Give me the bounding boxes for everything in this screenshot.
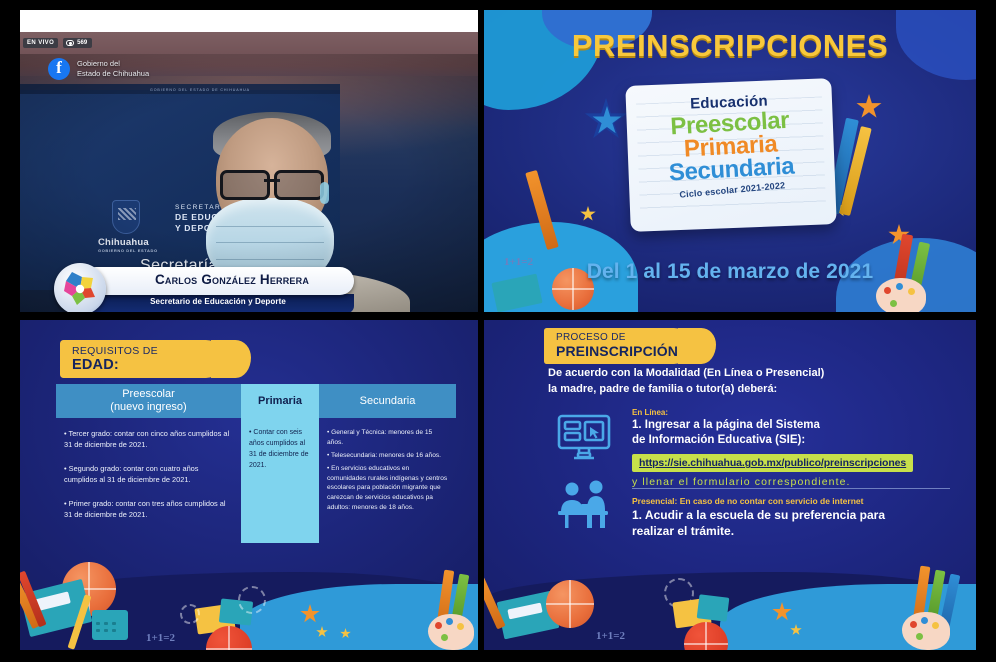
- column-cell-primaria: • Contar con seis años cumplidos al 31 d…: [241, 418, 319, 543]
- live-video-panel[interactable]: GOBIERNO DEL ESTADO DE CHIHUAHUA Chihuah…: [20, 10, 478, 312]
- monitor-cursor-icon: [556, 413, 612, 461]
- live-badge: EN VIVO: [23, 38, 58, 48]
- speaker-lower-third: Carlos González Herrera Secretario de Ed…: [54, 263, 354, 312]
- calculator-icon: [92, 610, 128, 640]
- promo-title: PREINSCRIPCIONES: [484, 28, 976, 64]
- proceso-lead-line2: la madre, padre de familia o tutor(a) de…: [548, 383, 777, 395]
- column-header-preescolar: Preescolar (nuevo ingreso): [56, 384, 241, 418]
- proceso-footer-decor: 1+1=2: [484, 560, 976, 650]
- online-label: En Línea:: [632, 408, 952, 417]
- promo-date-range: Del 1 al 15 de marzo de 2021: [484, 260, 976, 284]
- requisitos-table-body: • Tercer grado: contar con cinco años cu…: [56, 418, 456, 543]
- preescolar-item: • Primer grado: contar con tres años cum…: [64, 498, 233, 521]
- online-instruction: 1. Ingresar a la página del Sistema de I…: [632, 418, 952, 448]
- column-header-secundaria: Secundaria: [319, 384, 456, 418]
- paint-palette-icon: [902, 612, 950, 650]
- eye-icon: [66, 40, 74, 46]
- online-instruction-line2: de Información Educativa (SIE):: [632, 434, 805, 446]
- presencial-instruction-line1: 1. Acudir a la escuela de su preferencia…: [632, 508, 885, 522]
- paint-palette-icon: [428, 614, 474, 650]
- requisitos-footer-decor: 1+1=2: [20, 560, 478, 650]
- secundaria-item: • En servicios educativos en comunidades…: [327, 464, 448, 513]
- proceso-slide-panel: PROCESO DE PREINSCRIPCIÓN De acuerdo con…: [484, 320, 976, 650]
- proceso-banner-line2: PREINSCRIPCIÓN: [556, 343, 678, 359]
- notebook-icon: [697, 594, 730, 621]
- chihuahua-state-seal-icon: [54, 263, 106, 312]
- dotted-swirl-decor: [180, 604, 200, 624]
- presencial-instruction-line2: realizar el trámite.: [632, 524, 734, 538]
- promo-slide-panel: 1+1=2 PREINSCRIPCIONES Educación Preesco…: [484, 10, 976, 312]
- facebook-page-row[interactable]: f Gobierno del Estado de Chihuahua: [48, 58, 149, 80]
- promo-card: Educación Preescolar Primaria Secundaria…: [625, 78, 836, 232]
- page-name-line2: Estado de Chihuahua: [77, 69, 149, 78]
- online-instruction-line1: 1. Ingresar a la página del Sistema: [632, 419, 820, 431]
- proceso-divider: [632, 488, 950, 489]
- facebook-logo-icon: f: [48, 58, 70, 80]
- secundaria-item: • General y Técnica: menores de 15 años.: [327, 428, 448, 448]
- live-status-row: EN VIVO 569: [23, 38, 92, 48]
- basketball-icon: [546, 580, 594, 628]
- requisitos-slide-panel: REQUISITOS DE EDAD: Preescolar (nuevo in…: [20, 320, 478, 650]
- presencial-instruction: 1. Acudir a la escuela de su preferencia…: [632, 508, 952, 540]
- online-followup-text: y llenar el formulario correspondiente.: [632, 476, 952, 488]
- video-top-letterbox: [20, 10, 478, 32]
- preescolar-item: • Segundo grado: contar con cuatro años …: [64, 463, 233, 486]
- proceso-banner: PROCESO DE PREINSCRIPCIÓN: [544, 328, 692, 364]
- primaria-item: • Contar con seis años cumplidos al 31 d…: [249, 428, 311, 471]
- requisitos-banner-line2: EDAD:: [72, 357, 119, 373]
- people-at-desk-icon: [556, 480, 614, 528]
- speaker-role: Secretario de Educación y Deporte: [82, 297, 354, 306]
- viewer-count-badge: 569: [63, 38, 92, 48]
- page-name-line1: Gobierno del: [77, 59, 120, 68]
- speaker-name: Carlos González Herrera: [112, 272, 352, 287]
- presencial-label: Presencial: En caso de no contar con ser…: [632, 496, 952, 506]
- requisitos-banner-line1: REQUISITOS DE: [72, 345, 158, 357]
- column-cell-secundaria: • General y Técnica: menores de 15 años.…: [319, 418, 456, 543]
- promo-card-content: Educación Preescolar Primaria Secundaria…: [625, 78, 836, 232]
- sie-url-link[interactable]: https://sie.chihuahua.gob.mx/publico/pre…: [632, 454, 913, 472]
- math-doodle: 1+1=2: [146, 632, 175, 644]
- header-preescolar-line1: Preescolar: [122, 388, 175, 400]
- proceso-lead-text: De acuerdo con la Modalidad (En Línea o …: [548, 366, 928, 398]
- preescolar-item: • Tercer grado: contar con cinco años cu…: [64, 428, 233, 451]
- column-header-primaria: Primaria: [241, 384, 319, 418]
- math-doodle: 1+1=2: [596, 630, 625, 642]
- header-preescolar-line2: (nuevo ingreso): [110, 401, 186, 413]
- requisitos-banner: REQUISITOS DE EDAD:: [60, 340, 225, 378]
- secundaria-item: • Telesecundaria: menores de 16 años.: [327, 451, 448, 461]
- facebook-page-name: Gobierno del Estado de Chihuahua: [77, 59, 149, 79]
- proceso-lead-line1: De acuerdo con la Modalidad (En Línea o …: [548, 367, 824, 379]
- viewer-count-value: 569: [77, 40, 87, 46]
- requisitos-table-header-row: Preescolar (nuevo ingreso) Primaria Secu…: [56, 384, 456, 418]
- screen-root: GOBIERNO DEL ESTADO DE CHIHUAHUA Chihuah…: [0, 0, 996, 662]
- requisitos-table: Preescolar (nuevo ingreso) Primaria Secu…: [56, 384, 456, 543]
- proceso-presencial-block: Presencial: En caso de no contar con ser…: [632, 496, 952, 540]
- proceso-online-block: En Línea: 1. Ingresar a la página del Si…: [632, 408, 952, 488]
- proceso-banner-line1: PROCESO DE: [556, 332, 626, 343]
- dotted-swirl-decor: [238, 586, 266, 614]
- column-cell-preescolar: • Tercer grado: contar con cinco años cu…: [56, 418, 241, 543]
